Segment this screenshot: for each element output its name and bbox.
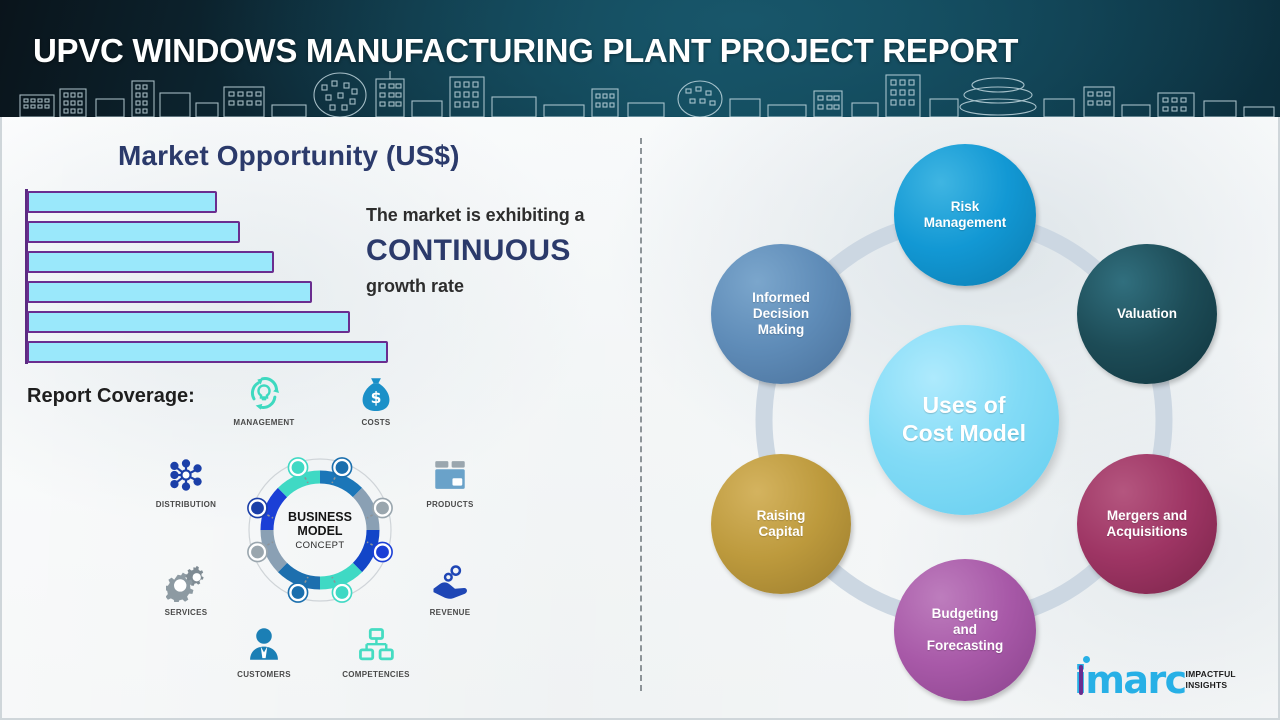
coverage-item-distribution: DISTRIBUTION [138,452,234,509]
coverage-item-revenue: REVENUE [402,560,498,617]
coverage-item-label: DISTRIBUTION [138,500,234,509]
market-note-emphasis: CONTINUOUS [366,234,636,268]
chart-axis [25,189,28,364]
table-row [27,251,274,273]
market-opportunity-bar-chart [25,189,405,364]
coverage-item-services: SERVICES [138,560,234,617]
logo-tagline-line1: IMPACTFUL [1186,669,1236,680]
svg-text:$: $ [371,389,382,407]
node-raising-capital[interactable]: Raising Capital [711,454,851,594]
logo-dot-icon [1083,656,1090,663]
package-box-icon [402,452,498,498]
uses-of-cost-model-diagram: Uses of Cost Model Risk Management Valua… [640,117,1280,720]
node-label: Mergers and Acquisitions [1106,508,1187,540]
coverage-item-label: CUSTOMERS [216,670,312,679]
coverage-item-label: REVENUE [402,608,498,617]
coverage-item-products: PRODUCTS [402,452,498,509]
business-model-diagram: MANAGEMENT $ COSTS [140,370,500,700]
slide-canvas: UPVC WINDOWS MANUFACTURING PLANT PROJECT… [0,0,1280,720]
table-row [27,281,312,303]
market-note-line1: The market is exhibiting a [366,205,636,226]
node-risk-management[interactable]: Risk Management [894,144,1036,286]
org-chart-icon [328,622,424,668]
coverage-item-label: SERVICES [138,608,234,617]
network-nodes-icon [138,452,234,498]
node-mergers-acquisitions[interactable]: Mergers and Acquisitions [1077,454,1217,594]
node-label: Informed Decision Making [752,290,810,339]
money-bag-icon: $ [328,370,424,416]
header-banner: UPVC WINDOWS MANUFACTURING PLANT PROJECT… [0,0,1280,117]
coverage-item-customers: CUSTOMERS [216,622,312,679]
coverage-item-label: MANAGEMENT [216,418,312,427]
market-opportunity-title: Market Opportunity (US$) [118,140,460,172]
coverage-item-label: COSTS [328,418,424,427]
recycle-lightbulb-icon [216,370,312,416]
hand-coins-icon [402,560,498,606]
logo-tagline-line2: INSIGHTS [1186,680,1236,691]
gears-icon [138,560,234,606]
coverage-item-label: PRODUCTS [402,500,498,509]
node-label: Valuation [1117,306,1177,322]
node-label: Raising Capital [757,508,806,540]
coverage-item-competencies: COMPETENCIES [328,622,424,679]
center-node-uses-of-cost-model: Uses of Cost Model [869,325,1059,515]
coverage-item-management: MANAGEMENT [216,370,312,427]
table-row [27,311,350,333]
node-label: Risk Management [924,199,1007,231]
node-budgeting-forecasting[interactable]: Budgeting and Forecasting [894,559,1036,701]
logo-separator [1079,665,1083,695]
user-person-icon [216,622,312,668]
node-valuation[interactable]: Valuation [1077,244,1217,384]
table-row [27,221,240,243]
coverage-item-label: COMPETENCIES [328,670,424,679]
node-informed-decision-making[interactable]: Informed Decision Making [711,244,851,384]
node-label: Budgeting and Forecasting [927,606,1004,655]
table-row [27,341,388,363]
market-note-line3: growth rate [366,276,636,297]
page-title: UPVC WINDOWS MANUFACTURING PLANT PROJECT… [33,32,1018,70]
table-row [27,191,217,213]
center-node-label: Uses of Cost Model [902,392,1026,447]
imarc-logo: imarc IMPACTFUL INSIGHTS [1074,663,1236,697]
coverage-item-costs: $ COSTS [328,370,424,427]
logo-wordmark: imarc [1074,663,1186,697]
business-model-donut: BUSINESS MODEL CONCEPT [240,450,400,610]
market-note: The market is exhibiting a CONTINUOUS gr… [366,205,636,297]
